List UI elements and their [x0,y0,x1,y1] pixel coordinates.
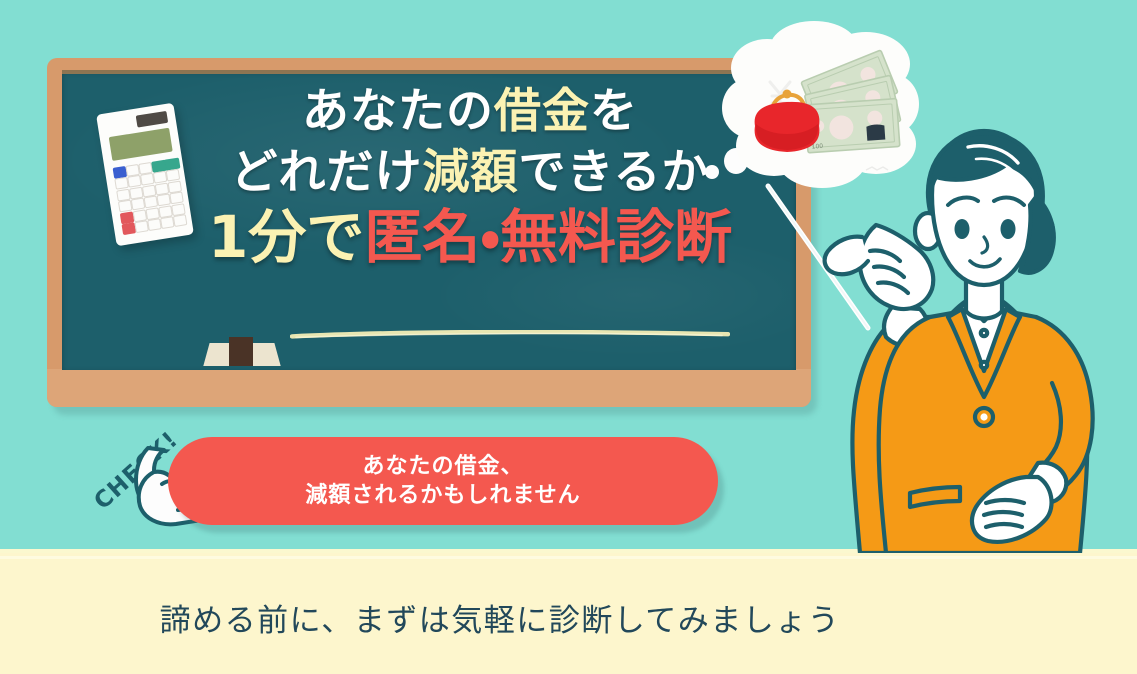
footer-message: 諦める前に、まずは気軽に診断してみましょう [0,595,1000,640]
headline-line-3: 1分で匿名・無料診断 [190,208,750,266]
cta-line-2: 減額されるかもしれません [305,481,580,510]
businesswoman-illustration [780,125,1137,553]
cta-banner[interactable]: あなたの借金、 減額されるかもしれません [168,437,718,525]
blackboard-top-edge [62,70,796,74]
page-root: あなたの借金を どれだけ減額できるか 1分で匿名・無料診断 [0,0,1137,674]
chalk-underline-icon [290,330,730,339]
headline-line-2: どれだけ減額できるか [190,149,750,196]
calculator-key [173,214,188,227]
headline-line-1: あなたの借金を [190,88,750,135]
cta-line-1: あなたの借金、 [362,452,523,481]
blackboard-headline: あなたの借金を どれだけ減額できるか 1分で匿名・無料診断 [190,88,750,266]
blackboard-tray [47,369,811,407]
chalkboard-eraser-grip-icon [229,337,253,366]
footer-hairline [0,556,1137,559]
